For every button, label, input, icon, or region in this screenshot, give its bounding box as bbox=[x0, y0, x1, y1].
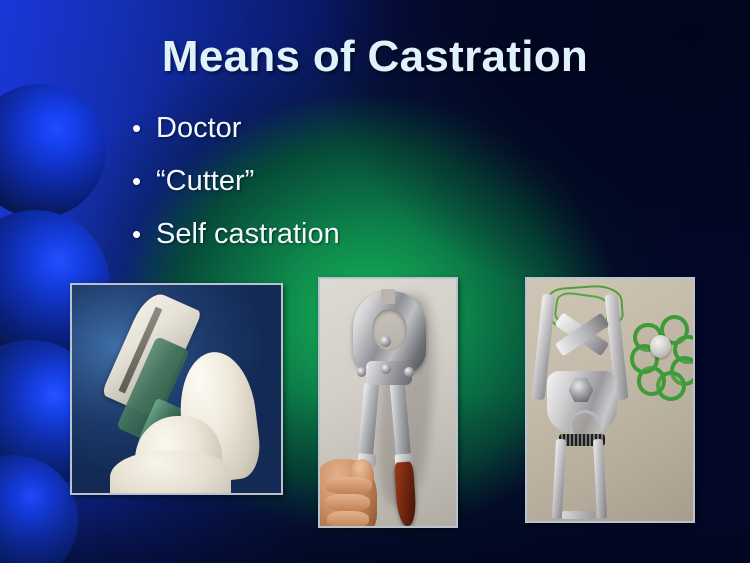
bullet-list: • Doctor • “Cutter” • Self castration bbox=[132, 112, 592, 271]
bolt-shape bbox=[380, 336, 391, 347]
bullet-label: “Cutter” bbox=[156, 165, 254, 198]
coin-scale-reference-shape bbox=[650, 335, 672, 358]
emasculator-left-arm-shape bbox=[357, 382, 379, 460]
image-emasculator-content bbox=[320, 279, 456, 526]
finger-shape bbox=[327, 511, 369, 526]
elastrator-tip-shape bbox=[562, 511, 595, 518]
bolt-shape bbox=[404, 367, 414, 377]
finger-shape bbox=[325, 477, 371, 494]
image-emasculator-hand bbox=[318, 277, 458, 528]
glove-palm-shape bbox=[110, 451, 231, 493]
bullet-label: Self castration bbox=[156, 218, 340, 251]
elastrator-left-leg-shape bbox=[551, 439, 565, 519]
list-item: • Doctor bbox=[132, 112, 592, 145]
bullet-dot-icon: • bbox=[132, 115, 156, 141]
image-elastrator-rings bbox=[525, 277, 695, 523]
list-item: • “Cutter” bbox=[132, 165, 592, 198]
elastrator-right-leg-shape bbox=[593, 439, 607, 519]
bullet-dot-icon: • bbox=[132, 168, 156, 194]
bullet-dot-icon: • bbox=[132, 221, 156, 247]
presentation-slide: Means of Castration • Doctor • “Cutter” … bbox=[0, 0, 750, 563]
bolt-shape bbox=[381, 364, 391, 374]
finger-shape bbox=[325, 494, 370, 511]
emasculator-notch-shape bbox=[381, 289, 395, 304]
list-item: • Self castration bbox=[132, 218, 592, 251]
image-scalpel-gloved-hand bbox=[70, 283, 283, 495]
bolt-shape bbox=[357, 367, 367, 377]
image-scalpel-content bbox=[72, 285, 281, 493]
bullet-label: Doctor bbox=[156, 112, 241, 145]
slide-title: Means of Castration bbox=[0, 34, 750, 80]
image-elastrator-content bbox=[527, 279, 693, 521]
